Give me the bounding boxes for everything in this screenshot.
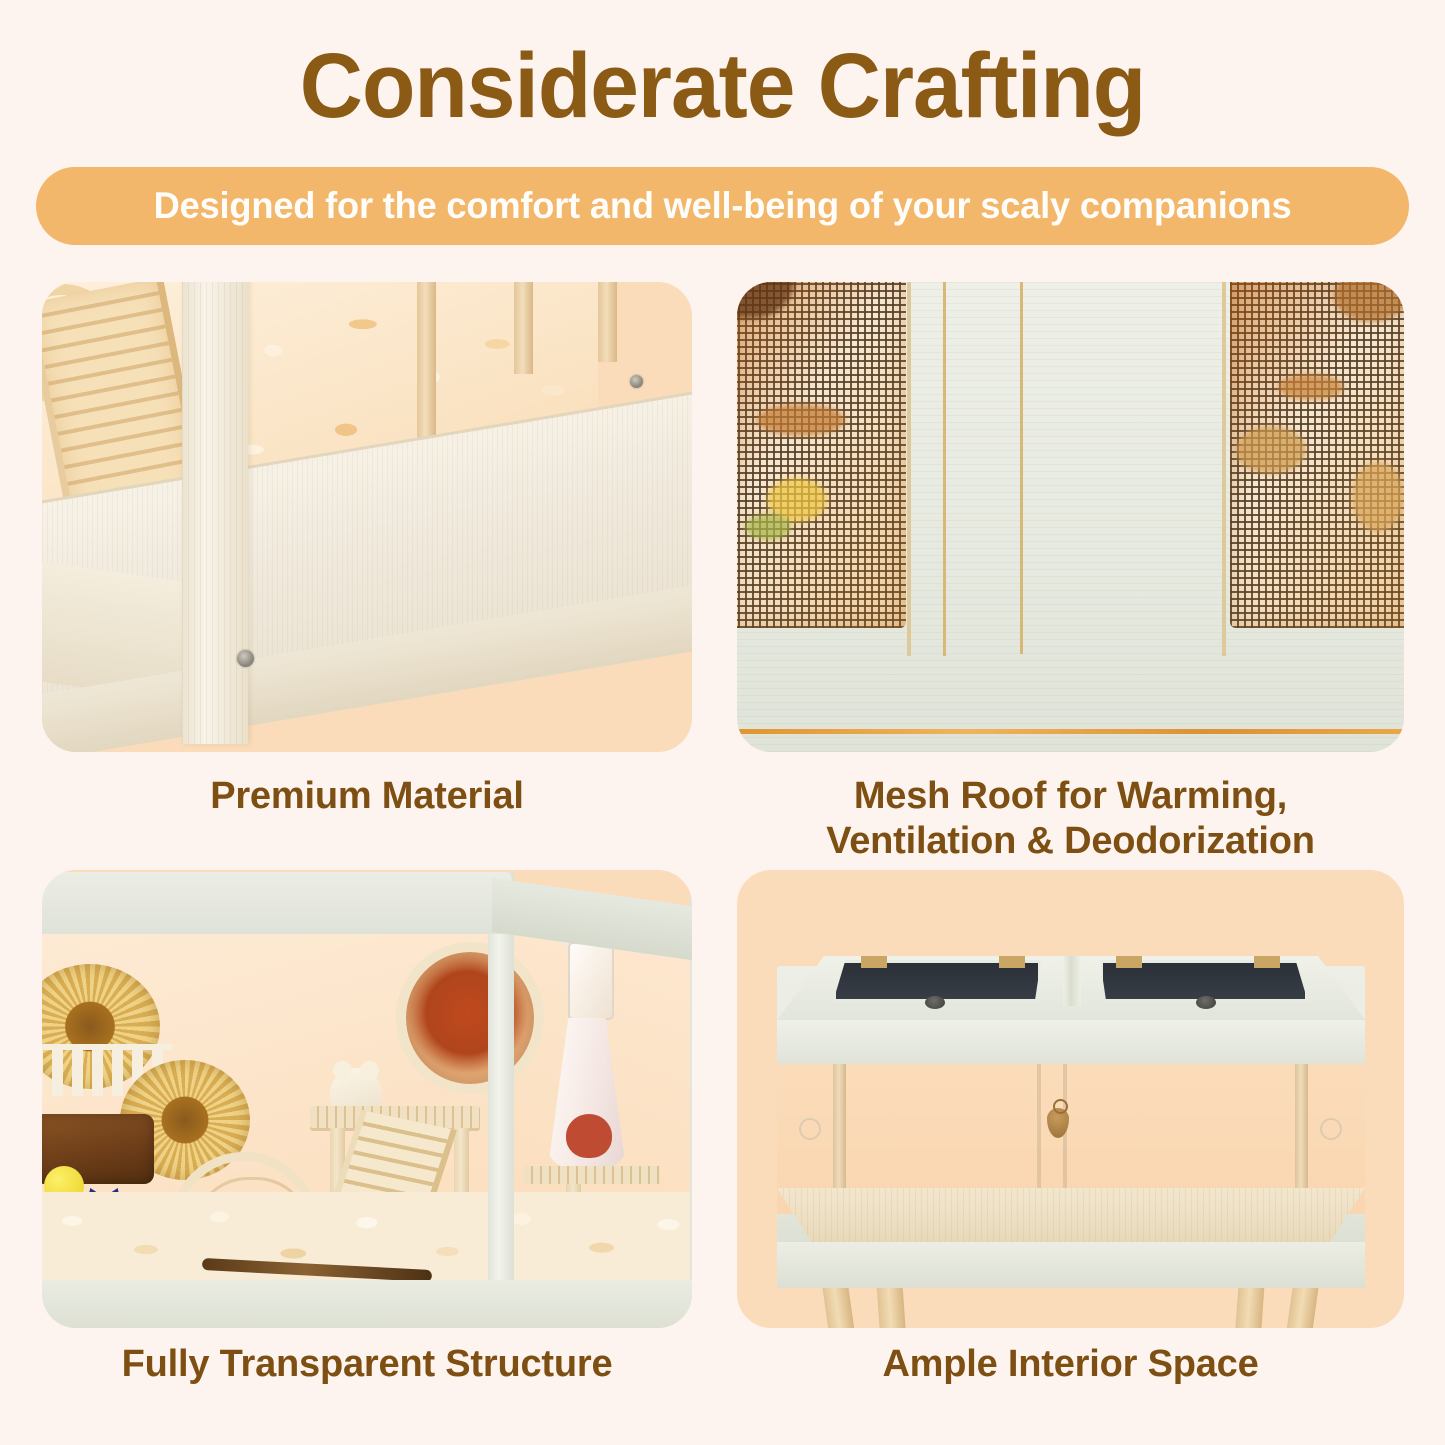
feature-card-transparent-structure: Fully Transparent Structure bbox=[42, 870, 692, 1328]
mesh-roof-photo bbox=[737, 282, 1404, 752]
roof-knob bbox=[925, 996, 945, 1009]
feature-card-ample-interior-space: Ample Interior Space bbox=[737, 870, 1404, 1328]
ample-interior-space-photo bbox=[737, 870, 1404, 1328]
infographic-page: Considerate Crafting Designed for the co… bbox=[0, 0, 1445, 1445]
page-title: Considerate Crafting bbox=[36, 34, 1409, 138]
feature-caption: Premium Material bbox=[42, 774, 692, 819]
roof-center-divider bbox=[1063, 956, 1081, 1006]
cage-top-rail bbox=[42, 872, 512, 934]
mesh-content-blob bbox=[1236, 426, 1306, 474]
cage-base-rail bbox=[777, 1242, 1365, 1288]
feature-card-premium-material: Premium Material bbox=[42, 282, 692, 752]
mesh-content-blob bbox=[1352, 462, 1404, 532]
feature-card-mesh-roof: Mesh Roof for Warming, Ventilation & Deo… bbox=[737, 282, 1404, 752]
mesh-edge-right bbox=[1222, 282, 1226, 656]
roof-hinge bbox=[1116, 956, 1142, 968]
transparent-structure-photo bbox=[42, 870, 692, 1328]
premium-material-photo bbox=[42, 282, 692, 752]
cage-post-c bbox=[598, 282, 617, 362]
cage-corner-post bbox=[488, 872, 514, 1312]
exercise-wheel bbox=[396, 942, 544, 1094]
feature-caption-line-2: Ventilation & Deodorization bbox=[826, 820, 1315, 862]
roof-hinge bbox=[999, 956, 1025, 968]
roof-hinge bbox=[1254, 956, 1280, 968]
feature-grid: Premium Material bbox=[42, 282, 1404, 1412]
cage-post-a bbox=[417, 282, 436, 438]
mesh-content-blob bbox=[1334, 282, 1404, 322]
mesh-edge-left bbox=[907, 282, 911, 656]
subtitle-banner: Designed for the comfort and well-being … bbox=[36, 167, 1409, 245]
cage-top-rail bbox=[777, 1020, 1365, 1064]
ventilation-hole bbox=[1320, 1118, 1342, 1140]
mesh-content-blob bbox=[745, 514, 791, 540]
feature-caption: Mesh Roof for Warming, Ventilation & Deo… bbox=[737, 774, 1404, 864]
cage-base-rail bbox=[42, 1280, 692, 1328]
water-bottle-tube bbox=[568, 942, 614, 1020]
screw-icon bbox=[237, 650, 254, 667]
bottle-shelf bbox=[524, 1166, 660, 1184]
roof-hinge bbox=[861, 956, 887, 968]
mesh-panel-left bbox=[737, 282, 906, 628]
cage-post-b bbox=[514, 282, 533, 374]
roof-slat-gap bbox=[1020, 282, 1023, 654]
mesh-content-blob bbox=[737, 282, 795, 318]
mesh-panel-right bbox=[1230, 282, 1404, 628]
mesh-content-blob bbox=[757, 404, 845, 436]
feature-caption: Fully Transparent Structure bbox=[42, 1342, 692, 1387]
roof-knob bbox=[1196, 996, 1216, 1009]
ventilation-hole bbox=[799, 1118, 821, 1140]
door-seam bbox=[1037, 1064, 1041, 1194]
subtitle-text: Designed for the comfort and well-being … bbox=[154, 186, 1292, 226]
roof-slat-gap bbox=[943, 282, 946, 656]
mesh-content-blob bbox=[1278, 374, 1344, 400]
roof-bottom-seam bbox=[737, 729, 1404, 734]
corner-post bbox=[182, 282, 248, 744]
feature-caption-line-1: Mesh Roof for Warming, bbox=[854, 775, 1287, 817]
water-bottle-accent bbox=[566, 1114, 612, 1158]
screw-icon bbox=[630, 375, 643, 388]
feature-caption: Ample Interior Space bbox=[737, 1342, 1404, 1387]
